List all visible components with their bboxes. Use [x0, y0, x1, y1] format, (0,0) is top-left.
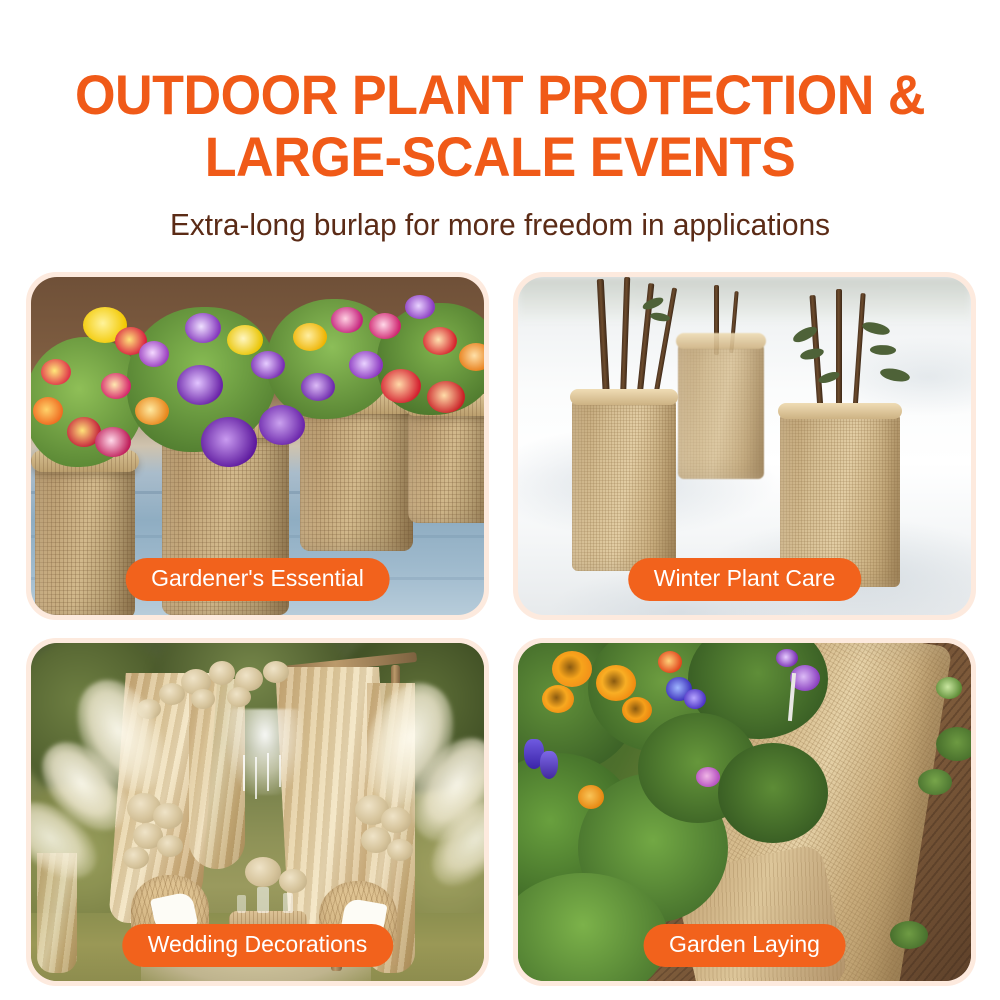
- panel-wedding-decorations[interactable]: Wedding Decorations: [26, 638, 489, 986]
- photo-gardeners-essential: Gardener's Essential: [31, 277, 484, 615]
- page-subtitle: Extra-long burlap for more freedom in ap…: [20, 206, 980, 244]
- panel-caption-badge: Gardener's Essential: [125, 558, 390, 601]
- page-title-line-1: OUTDOOR PLANT PROTECTION &: [35, 64, 965, 126]
- panel-caption-badge: Winter Plant Care: [628, 558, 862, 601]
- panel-caption-badge: Wedding Decorations: [122, 924, 393, 967]
- photo-wedding-decorations: Wedding Decorations: [31, 643, 484, 981]
- photo-garden-laying: Garden Laying: [518, 643, 971, 981]
- panel-garden-laying[interactable]: Garden Laying: [513, 638, 976, 986]
- photo-winter-plant-care: Winter Plant Care: [518, 277, 971, 615]
- feature-panel-grid: Gardener's Essential: [26, 272, 976, 972]
- panel-gardeners-essential[interactable]: Gardener's Essential: [26, 272, 489, 620]
- panel-winter-plant-care[interactable]: Winter Plant Care: [513, 272, 976, 620]
- panel-caption-badge: Garden Laying: [643, 924, 846, 967]
- header: OUTDOOR PLANT PROTECTION & LARGE-SCALE E…: [0, 0, 1000, 244]
- page-title-line-2: LARGE-SCALE EVENTS: [35, 126, 965, 188]
